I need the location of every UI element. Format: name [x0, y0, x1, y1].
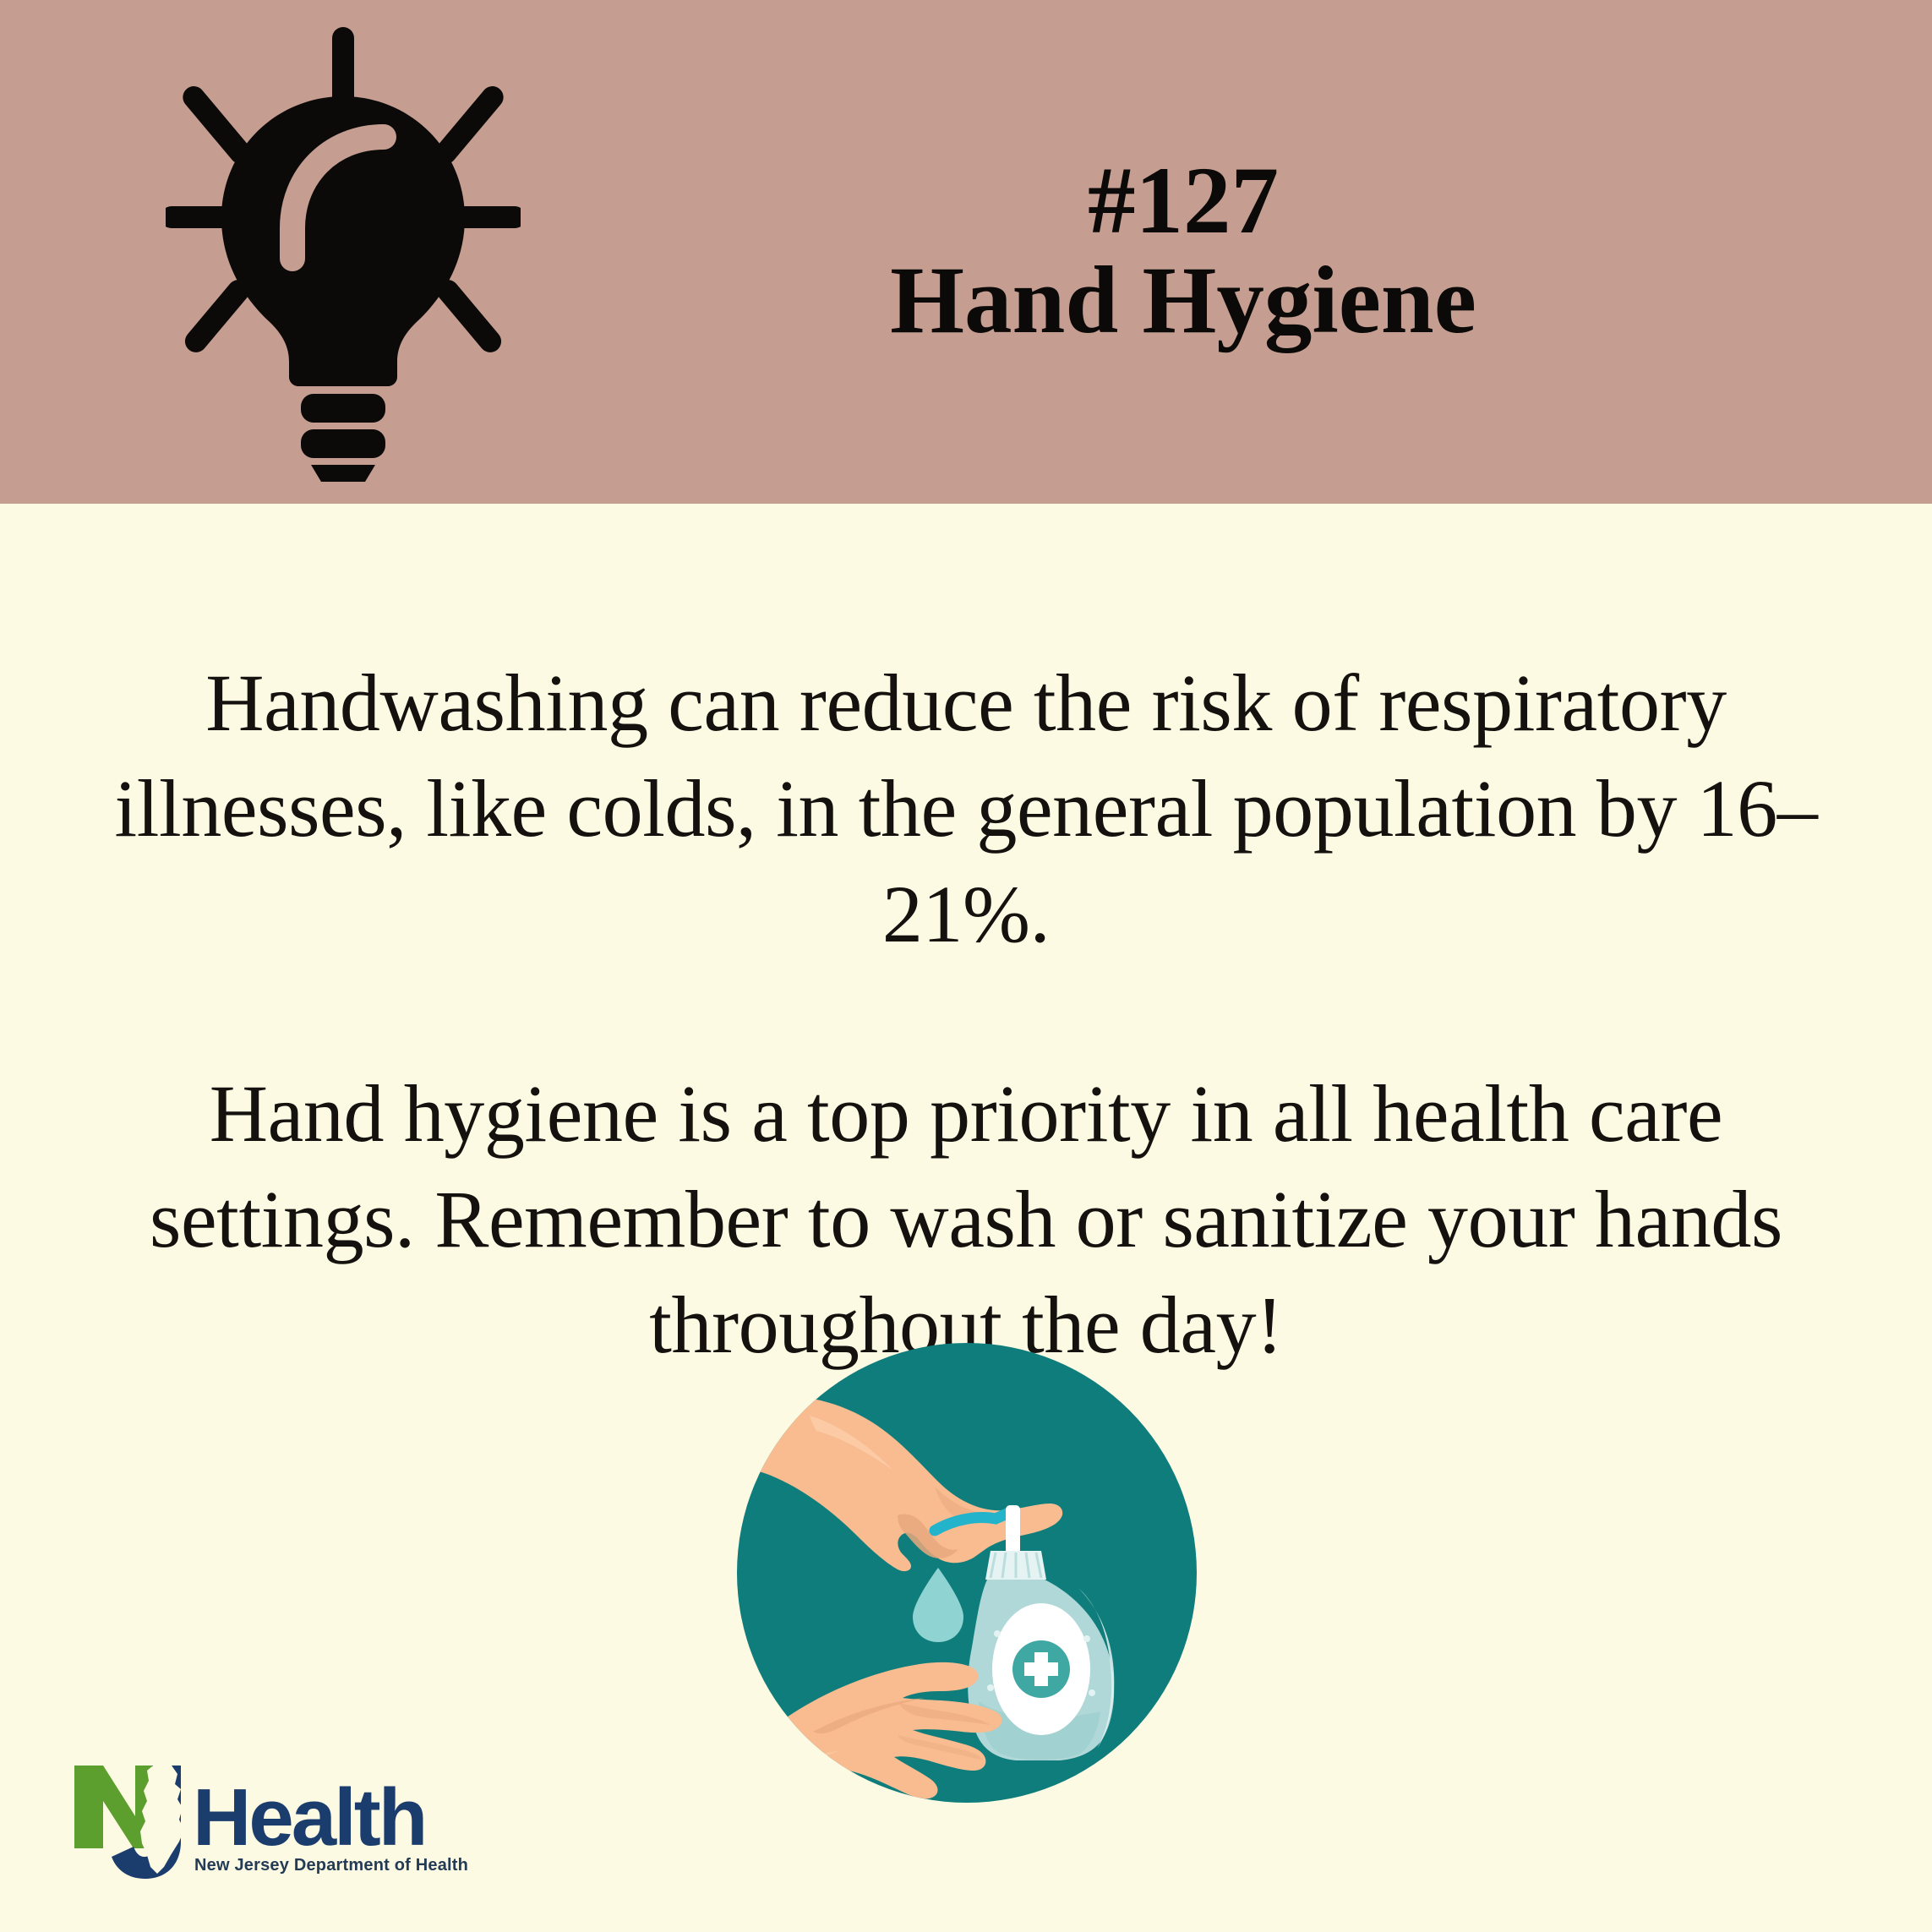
- hand-sanitizer-illustration: [732, 1338, 1202, 1808]
- lightbulb-icon: [166, 19, 521, 488]
- logo-tagline: New Jersey Department of Health: [194, 1856, 468, 1875]
- nj-health-logo: Health New Jersey Department of Health: [69, 1760, 509, 1887]
- tip-subject: Hand Hygiene: [890, 250, 1476, 352]
- header-band: #127 Hand Hygiene: [0, 0, 1932, 504]
- logo-wordmark: Health: [193, 1772, 425, 1863]
- paragraph-call-to-action: Hand hygiene is a top priority in all he…: [96, 1062, 1836, 1378]
- paragraph-spacer: [96, 967, 1836, 1062]
- paragraph-statistic: Handwashing can reduce the risk of respi…: [96, 651, 1836, 967]
- body-copy: Handwashing can reduce the risk of respi…: [96, 651, 1836, 1378]
- header-title-group: #127 Hand Hygiene: [761, 0, 1606, 504]
- tip-number: #127: [1088, 151, 1279, 251]
